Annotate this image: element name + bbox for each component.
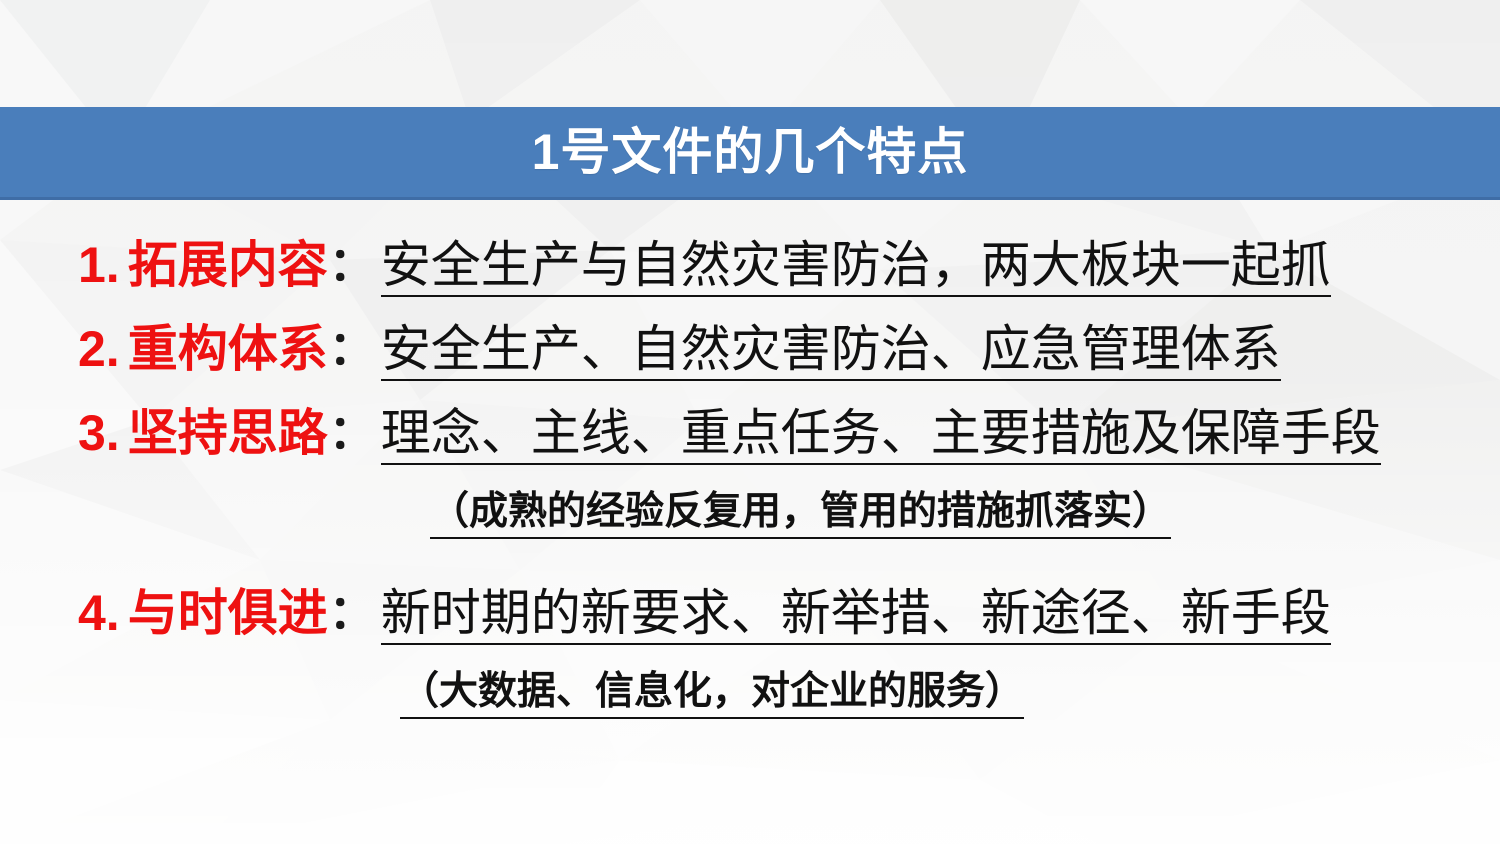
list-item-note-row: （大数据、信息化，对企业的服务）: [0, 672, 1500, 746]
list-item-body: 理念、主线、重点任务、主要措施及保障手段: [381, 408, 1381, 465]
list-item: 4.与时俱进 ： 新时期的新要求、新举措、新途径、新手段: [0, 588, 1500, 672]
list-item-colon: ：: [329, 409, 375, 455]
list-item: 2.重构体系 ： 安全生产、自然灾害防治、应急管理体系: [0, 324, 1500, 408]
list-item-number: 2.: [78, 324, 120, 374]
list-item-colon: ：: [329, 589, 375, 635]
list-item-colon: ：: [329, 241, 375, 287]
list-item-label: 3.坚持思路: [78, 408, 328, 458]
list-item: 1.拓展内容 ： 安全生产与自然灾害防治，两大板块一起抓: [0, 240, 1500, 324]
presentation-slide: 1号文件的几个特点 1.拓展内容 ： 安全生产与自然灾害防治，两大板块一起抓 2…: [0, 0, 1500, 844]
list-item-number: 1.: [78, 240, 120, 290]
list-item-colon: ：: [329, 325, 375, 371]
list-item-note-row: （成熟的经验反复用，管用的措施抓落实）: [0, 492, 1500, 566]
page-title: 1号文件的几个特点: [532, 127, 969, 177]
list-item-label: 2.重构体系: [78, 324, 328, 374]
list-item-label: 1.拓展内容: [78, 240, 328, 290]
list-item-keyword: 坚持思路: [128, 405, 328, 461]
list-item-label: 4.与时俱进: [78, 588, 328, 638]
title-banner: 1号文件的几个特点: [0, 107, 1500, 200]
list-item: 3.坚持思路 ： 理念、主线、重点任务、主要措施及保障手段: [0, 408, 1500, 492]
list-item-note: （成熟的经验反复用，管用的措施抓落实）: [430, 492, 1171, 539]
list-item-keyword: 重构体系: [128, 321, 328, 377]
list-item-note: （大数据、信息化，对企业的服务）: [400, 672, 1024, 719]
list-item-keyword: 拓展内容: [128, 237, 328, 293]
list-item-body: 安全生产、自然灾害防治、应急管理体系: [381, 324, 1281, 381]
content-list: 1.拓展内容 ： 安全生产与自然灾害防治，两大板块一起抓 2.重构体系 ： 安全…: [0, 240, 1500, 746]
list-item-body: 新时期的新要求、新举措、新途径、新手段: [381, 588, 1331, 645]
list-item-number: 4.: [78, 588, 120, 638]
list-item-keyword: 与时俱进: [128, 585, 328, 641]
list-item-body: 安全生产与自然灾害防治，两大板块一起抓: [381, 240, 1331, 297]
list-item-number: 3.: [78, 408, 120, 458]
